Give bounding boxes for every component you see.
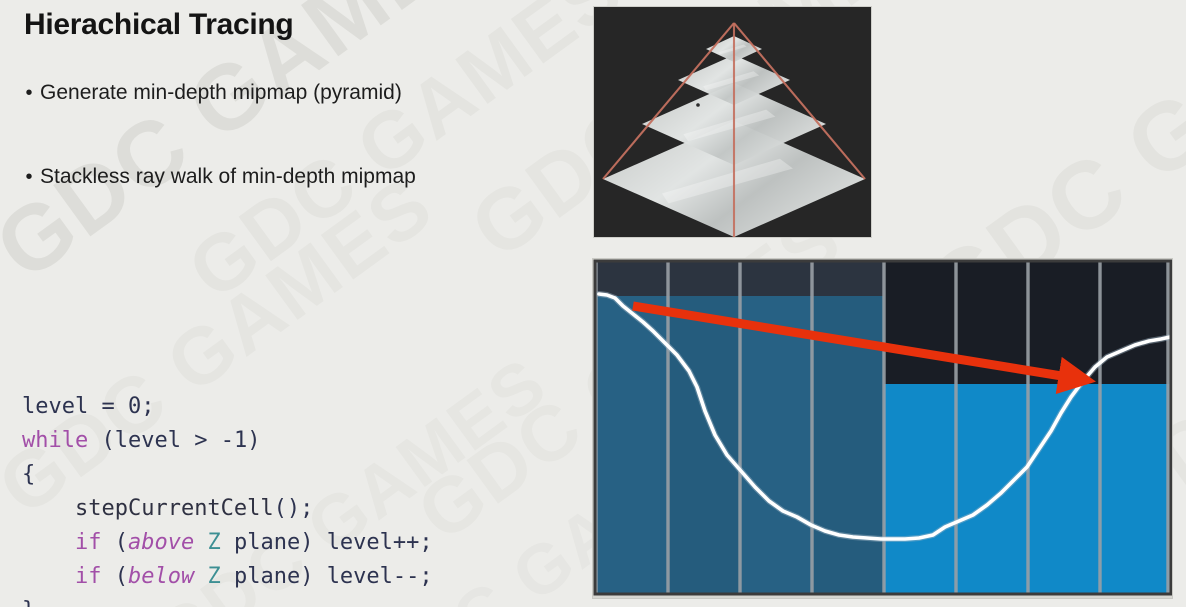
cell-shading — [668, 296, 740, 593]
code-line: if (above Z plane) level++; — [22, 526, 433, 560]
code-line: level = 0; — [22, 390, 433, 424]
code-token: while — [22, 428, 88, 453]
code-line: if (below Z plane) level--; — [22, 560, 433, 594]
code-token — [22, 530, 75, 555]
code-token: 0 — [128, 394, 141, 419]
probe-dot-marker — [696, 103, 700, 107]
code-token: plane) — [221, 530, 327, 555]
code-token: --; — [393, 564, 433, 589]
cell-below-plane — [1028, 384, 1100, 593]
code-token: below — [128, 564, 194, 589]
code-token: level — [22, 394, 88, 419]
code-block: level = 0;while (level > -1){ stepCurren… — [22, 288, 433, 607]
code-line: { — [22, 458, 433, 492]
code-token: stepCurrentCell — [75, 496, 274, 521]
code-token: level — [327, 530, 393, 555]
code-token: { — [22, 462, 35, 487]
code-line: while (level > -1) — [22, 424, 433, 458]
code-token: (); — [274, 496, 314, 521]
code-token: Z — [207, 564, 220, 589]
code-token: ( — [101, 564, 128, 589]
code-token: level — [115, 428, 181, 453]
bullet-dot-icon: • — [18, 164, 40, 190]
cell-above-plane — [740, 262, 812, 296]
list-item-label: Stackless ray walk of min-depth mipmap — [40, 164, 416, 190]
code-line: stepCurrentCell(); — [22, 492, 433, 526]
code-token: } — [22, 598, 35, 607]
mipmap-pyramid-figure — [593, 6, 872, 238]
cell-above-plane — [1100, 262, 1170, 384]
code-token — [181, 428, 194, 453]
cell-above-plane — [596, 262, 668, 296]
mipmap-pyramid-svg — [594, 7, 871, 237]
code-token: level — [327, 564, 393, 589]
ray-walk-trace-figure — [592, 258, 1173, 599]
code-token — [88, 394, 101, 419]
code-token: = — [101, 394, 114, 419]
ray-walk-svg — [593, 259, 1172, 598]
cell-above-plane — [884, 262, 956, 384]
code-token: ) — [247, 428, 260, 453]
bullet-dot-icon: • — [18, 80, 40, 106]
code-token: Z — [207, 530, 220, 555]
list-item-label: Generate min-depth mipmap (pyramid) — [40, 80, 402, 106]
code-token: -1 — [221, 428, 248, 453]
code-token: if — [75, 530, 102, 555]
bullet-list: •Generate min-depth mipmap (pyramid)•Sta… — [18, 80, 578, 248]
code-token: ( — [101, 530, 128, 555]
cell-below-plane — [956, 384, 1028, 593]
code-token — [194, 530, 207, 555]
list-item: •Stackless ray walk of min-depth mipmap — [18, 164, 578, 190]
code-token — [115, 394, 128, 419]
code-token: ++; — [393, 530, 433, 555]
cell-above-plane — [812, 262, 884, 296]
code-token — [207, 428, 220, 453]
slide-root: GDC GAMES GDC GAMES GDC GAMES GDC GAMES … — [0, 0, 1186, 607]
code-line: } — [22, 594, 433, 607]
page-title: Hierachical Tracing — [24, 8, 293, 42]
code-token — [22, 564, 75, 589]
list-item: •Generate min-depth mipmap (pyramid) — [18, 80, 578, 106]
code-token: > — [194, 428, 207, 453]
cell-above-plane — [1028, 262, 1100, 384]
code-token: ( — [88, 428, 115, 453]
cell-below-plane — [884, 384, 956, 593]
cell-above-plane — [668, 262, 740, 296]
code-token: ; — [141, 394, 154, 419]
code-token: above — [128, 530, 194, 555]
code-token — [194, 564, 207, 589]
code-token — [22, 496, 75, 521]
cell-below-plane — [1100, 384, 1170, 593]
code-token: if — [75, 564, 102, 589]
code-token: plane) — [221, 564, 327, 589]
